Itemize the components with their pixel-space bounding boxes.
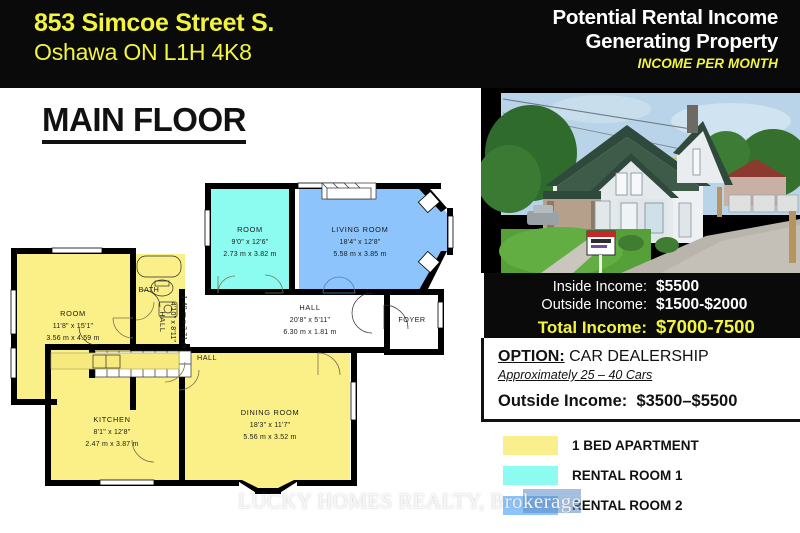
option-note: Approximately 25 – 40 Cars [498, 366, 800, 384]
address-line-1: 853 Simcoe Street S. [34, 8, 274, 38]
outside-income-value: $1500-$2000 [656, 296, 747, 314]
svg-text:11'8" x 15'1": 11'8" x 15'1" [53, 323, 94, 330]
room-label-bath: BATH [139, 285, 160, 294]
address-line-2: Oshawa ON L1H 4K8 [34, 38, 274, 66]
option-prefix: OPTION: [498, 348, 565, 365]
svg-text:6.30 m x 1.81 m: 6.30 m x 1.81 m [283, 329, 336, 336]
legend-item-apartment: 1 BED APARTMENT [503, 430, 800, 460]
svg-text:20'8" x 5'11": 20'8" x 5'11" [290, 317, 331, 324]
svg-text:2.47 m x 3.87 m: 2.47 m x 3.87 m [85, 441, 138, 448]
income-row-inside: Inside Income: $5500 [484, 273, 800, 296]
floor-title: MAIN FLOOR [42, 101, 246, 144]
option-outside-label: Outside Income: [498, 392, 627, 410]
inside-income-label: Inside Income: [484, 279, 656, 295]
legend-label-rental-room-1: RENTAL ROOM 1 [572, 468, 683, 483]
svg-text:1.48 m x 2.71 m: 1.48 m x 2.71 m [180, 295, 187, 348]
legend-item-rental-room-2: RENTAL ROOM 2 [503, 490, 800, 520]
svg-text:KITCHEN: KITCHEN [93, 415, 130, 424]
svg-text:18'4" x 12'8": 18'4" x 12'8" [340, 239, 381, 246]
svg-text:ROOM: ROOM [60, 309, 86, 318]
svg-text:ROOM: ROOM [237, 225, 263, 234]
property-address: 853 Simcoe Street S. Oshawa ON L1H 4K8 [34, 8, 274, 66]
svg-text:LIVING ROOM: LIVING ROOM [332, 225, 389, 234]
svg-text:8'1" x 12'8": 8'1" x 12'8" [94, 429, 131, 436]
option-headline: OPTION: CAR DEALERSHIP [498, 347, 800, 366]
total-income-value: $7000-7500 [656, 316, 755, 338]
property-photo-frame [481, 88, 800, 273]
room-label-foyer: FOYER [398, 315, 425, 324]
svg-text:HALL: HALL [158, 311, 167, 332]
kitchen-counter [51, 353, 179, 369]
svg-text:3.56 m x 4.59 m: 3.56 m x 4.59 m [46, 335, 99, 342]
svg-text:9'0" x 12'6": 9'0" x 12'6" [232, 239, 269, 246]
legend-item-rental-room-1: RENTAL ROOM 1 [503, 460, 800, 490]
income-row-outside: Outside Income: $1500-$2000 [484, 296, 800, 314]
income-summary-table: Inside Income: $5500 Outside Income: $15… [481, 273, 800, 338]
header-bar: 853 Simcoe Street S. Oshawa ON L1H 4K8 P… [0, 0, 800, 88]
svg-text:5.58 m x 3.85 m: 5.58 m x 3.85 m [333, 251, 386, 258]
foyer-fill [390, 293, 438, 355]
hall-fill [185, 293, 390, 353]
legend-label-apartment: 1 BED APARTMENT [572, 438, 699, 453]
svg-text:DINING ROOM: DINING ROOM [241, 408, 300, 417]
floorplan-drawing: .rmname { font-family: "Liberation Sans"… [0, 150, 480, 533]
property-photo [481, 91, 800, 273]
option-outside-value: $3500–$5500 [636, 392, 737, 410]
svg-text:5.56 m x 3.52 m: 5.56 m x 3.52 m [243, 434, 296, 441]
svg-text:HALL: HALL [299, 303, 320, 312]
promo-line-1: Potential Rental Income [553, 6, 778, 30]
outside-income-label: Outside Income: [484, 297, 656, 313]
legend-swatch-apartment [503, 436, 558, 455]
option-outside-income: Outside Income: $3500–$5500 [498, 384, 800, 411]
svg-text:4'10" x 8'11": 4'10" x 8'11" [169, 302, 176, 343]
legend-swatch-rental-room-1 [503, 466, 558, 485]
room-label-hall-small: HALL [197, 353, 217, 362]
inside-income-value: $5500 [656, 278, 699, 296]
income-row-total: Total Income: $7000-7500 [484, 314, 800, 338]
svg-text:18'3" x 11'7": 18'3" x 11'7" [250, 422, 291, 429]
stairs-upper [322, 183, 376, 199]
legend-label-rental-room-2: RENTAL ROOM 2 [572, 498, 683, 513]
promo-subtitle: INCOME PER MONTH [553, 54, 778, 74]
room-label-living-room: LIVING ROOM 18'4" x 12'8" 5.58 m x 3.85 … [332, 225, 389, 258]
color-legend: 1 BED APARTMENT RENTAL ROOM 1 RENTAL ROO… [503, 430, 800, 520]
svg-text:2.73 m x 3.82 m: 2.73 m x 3.82 m [223, 251, 276, 258]
option-title: CAR DEALERSHIP [569, 348, 709, 365]
promo-line-2: Generating Property [553, 30, 778, 54]
promo-headline: Potential Rental Income Generating Prope… [553, 6, 778, 74]
total-income-label: Total Income: [484, 318, 656, 338]
legend-swatch-rental-room-2 [503, 496, 558, 515]
option-panel: OPTION: CAR DEALERSHIP Approximately 25 … [481, 338, 800, 422]
